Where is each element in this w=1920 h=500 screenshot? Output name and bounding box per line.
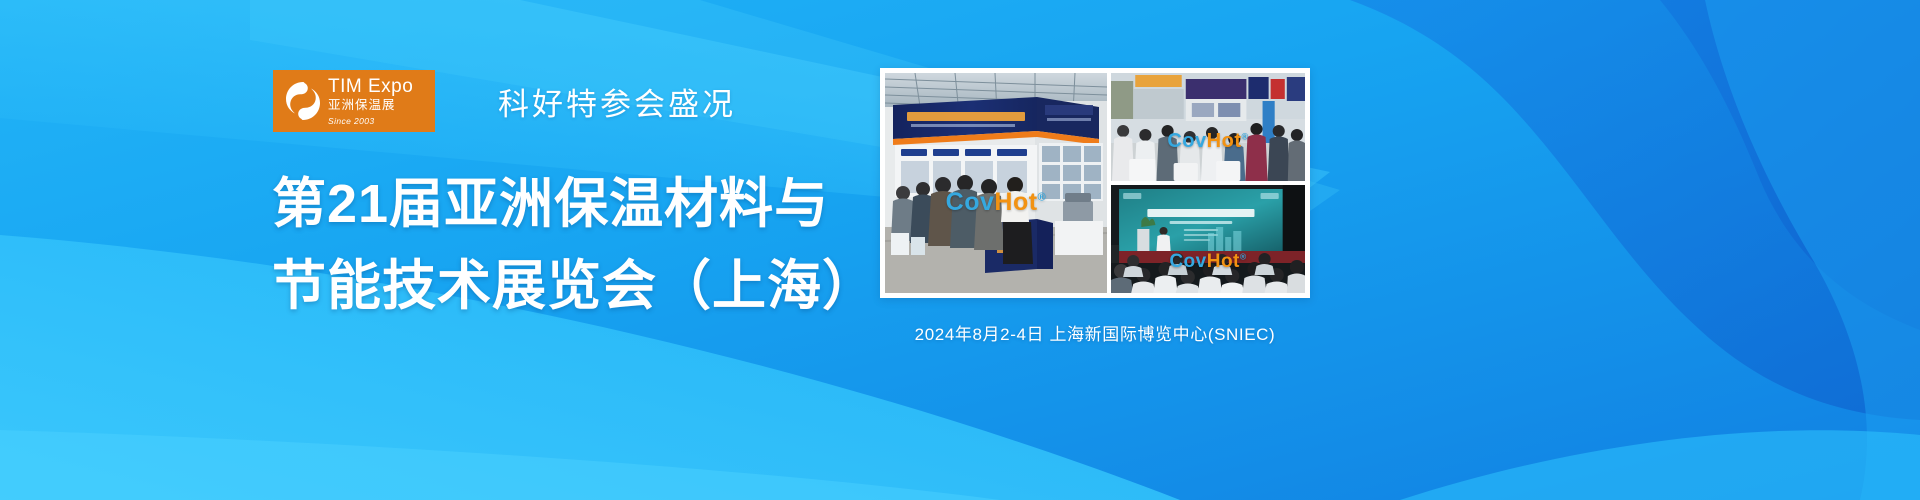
logo-wordmark: TIM Expo 亚洲保温展 Since 2003 <box>328 77 413 125</box>
page-title: 第21届亚洲保温材料与 节能技术展览会（上海） <box>272 163 877 327</box>
booth-photo[interactable]: CovHot® <box>885 73 1107 293</box>
logo-since: Since 2003 <box>328 117 413 126</box>
exhibition-hall-photo[interactable]: CovHot® <box>1111 73 1305 181</box>
photo-collage: CovHot® <box>880 68 1310 298</box>
logo-title: TIM Expo <box>328 77 413 96</box>
exhibition-banner: TIM Expo 亚洲保温展 Since 2003 科好特参会盛况 第21届亚洲… <box>0 0 1920 500</box>
logo-subtitle: 亚洲保温展 <box>328 99 413 112</box>
tim-expo-yinyang-icon <box>283 79 323 123</box>
kicker-text: 科好特参会盛况 <box>498 79 736 124</box>
forum-photo[interactable]: CovHot® <box>1111 185 1305 293</box>
venue-date-line: 2024年8月2-4日 上海新国际博览中心(SNIEC) <box>880 320 1310 345</box>
tim-expo-logo[interactable]: TIM Expo 亚洲保温展 Since 2003 <box>273 70 435 132</box>
headline-line-2: 节能技术展览会（上海） <box>272 245 877 327</box>
headline-line-1: 第21届亚洲保温材料与 <box>272 163 877 245</box>
